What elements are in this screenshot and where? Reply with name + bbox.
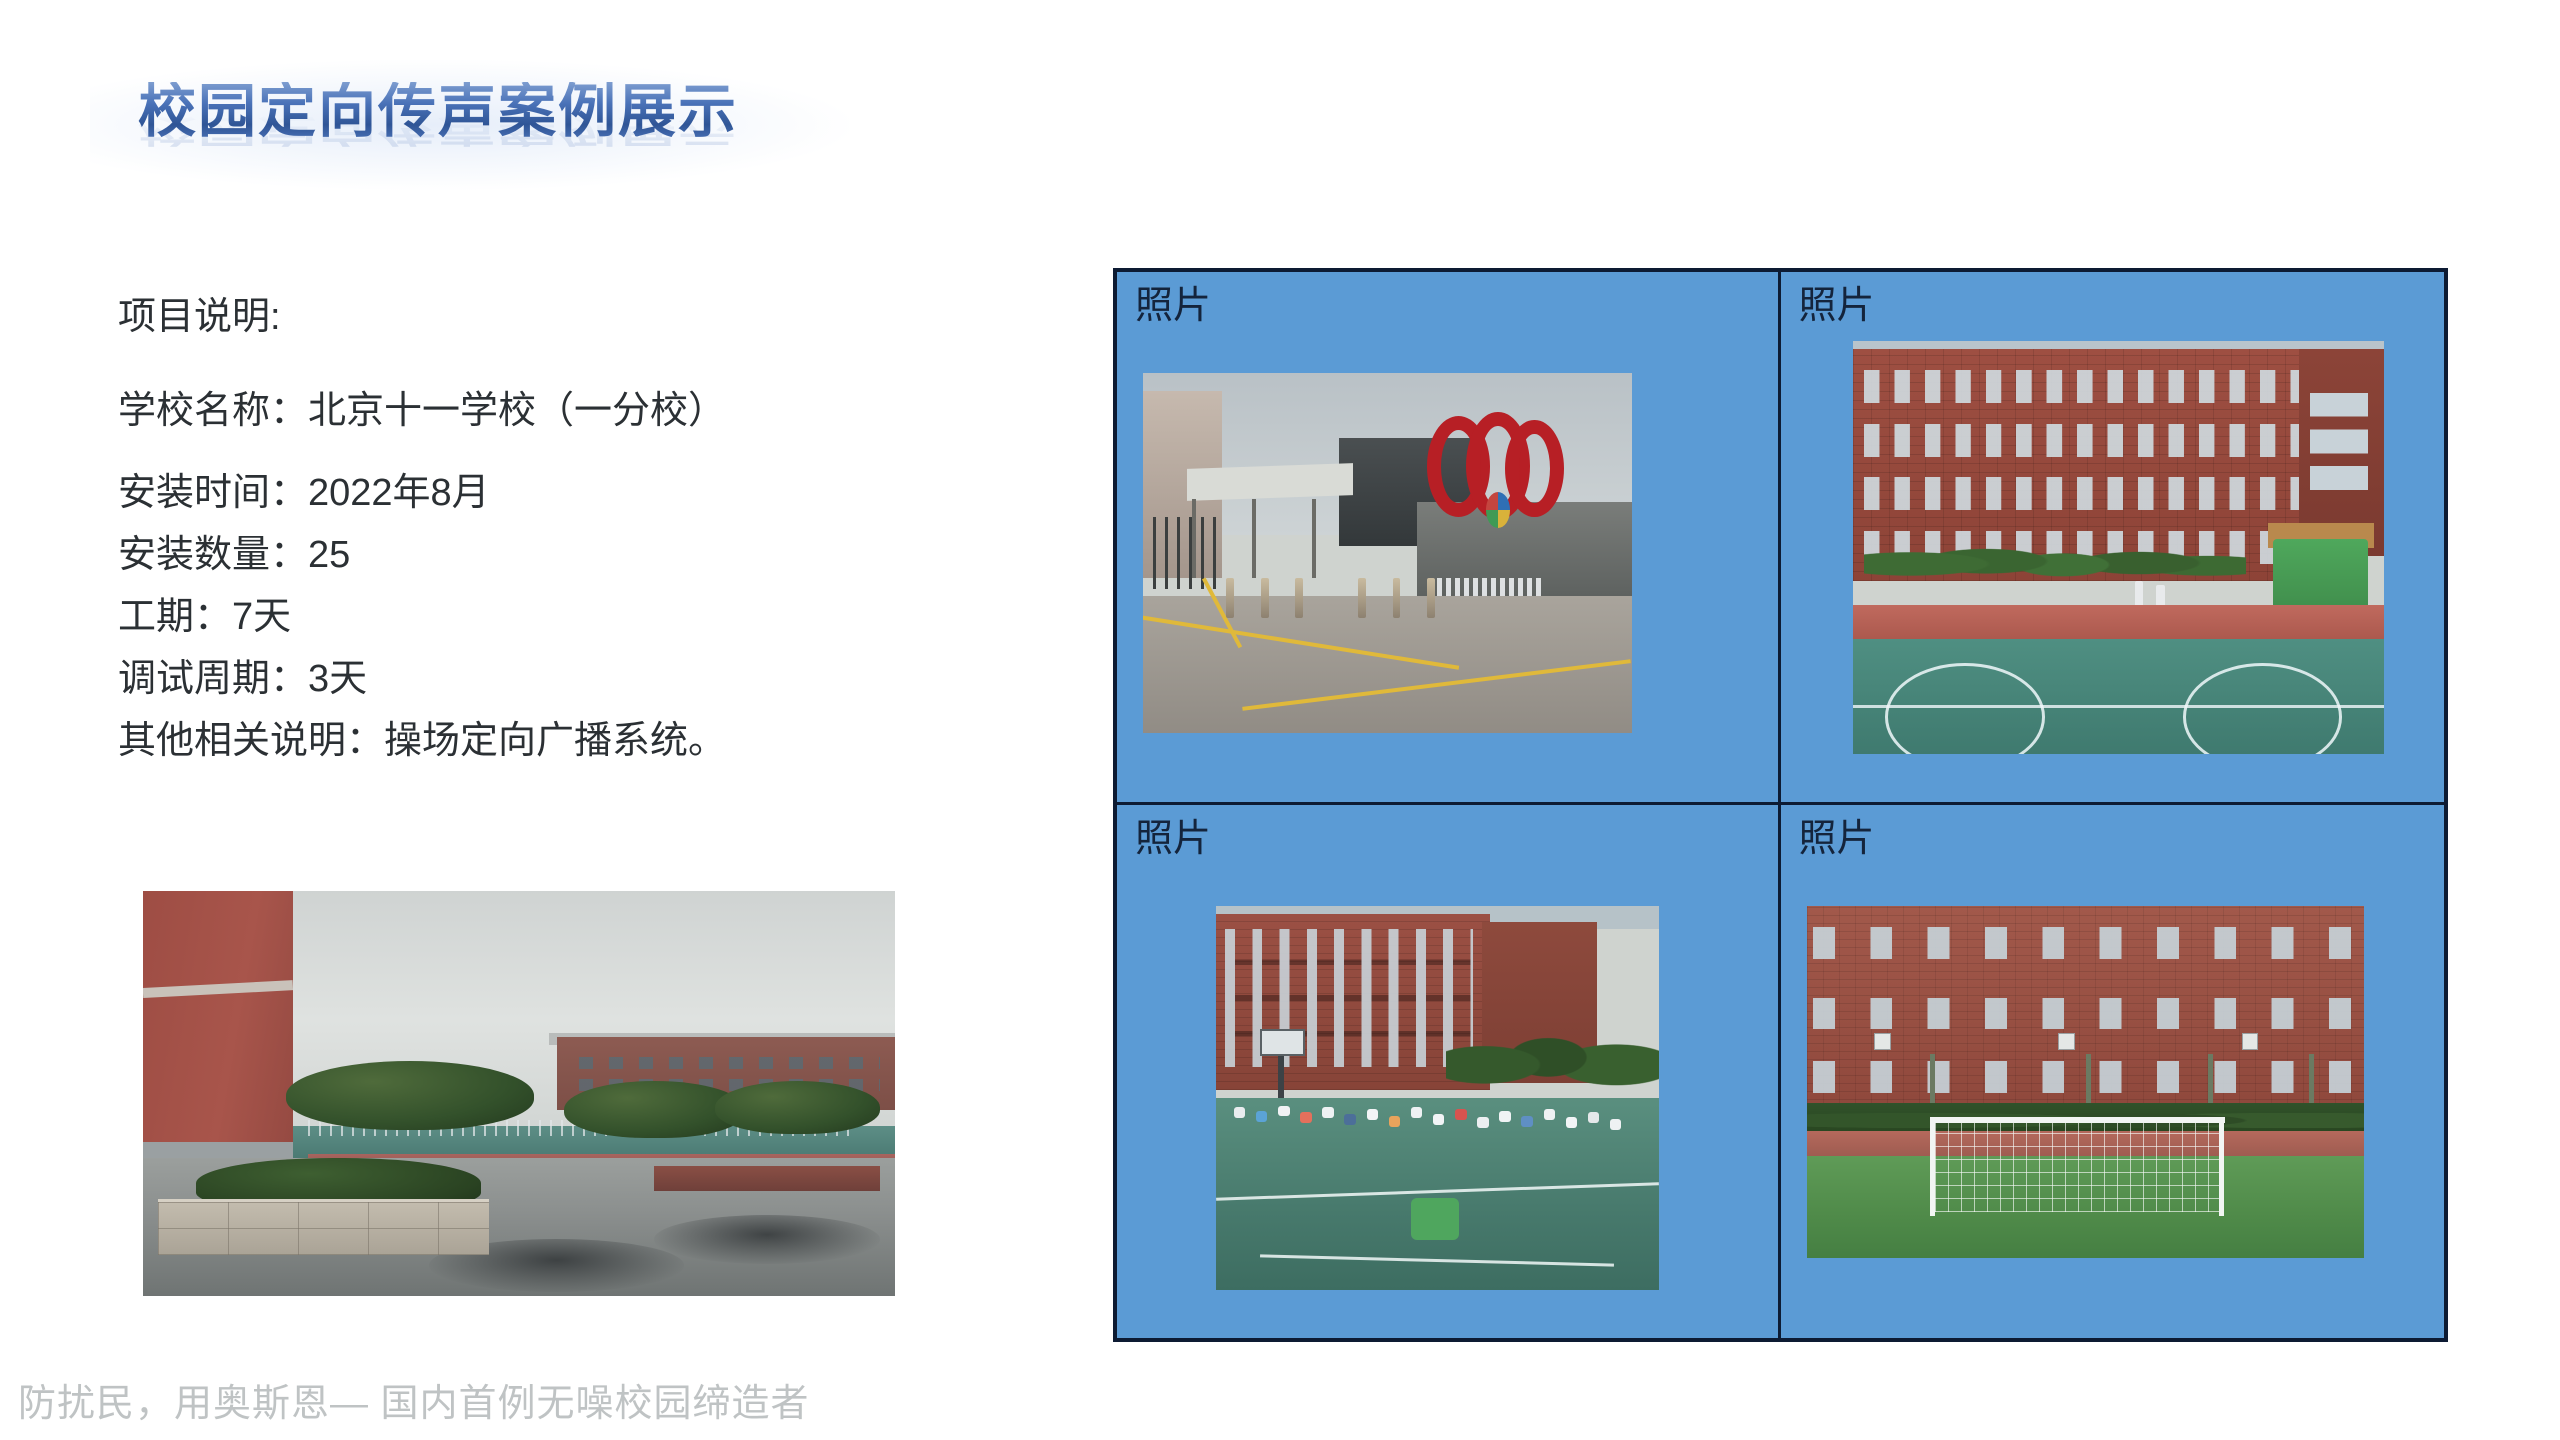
project-info-install-time: 安装时间：2022年8月 bbox=[118, 462, 1018, 524]
photo-air-conditioner bbox=[1874, 1033, 1891, 1051]
photo-goal-net bbox=[1935, 1121, 2219, 1212]
photo-student bbox=[1322, 1107, 1334, 1118]
spacer bbox=[118, 442, 1018, 462]
photo-student bbox=[1588, 1112, 1600, 1123]
students-on-court-photo bbox=[1216, 906, 1659, 1290]
photo-goal-crossbar bbox=[1930, 1117, 2225, 1123]
photo-student bbox=[1455, 1109, 1467, 1120]
project-info-duration: 工期：7天 bbox=[118, 586, 1018, 648]
photo-planter bbox=[654, 1166, 880, 1190]
photo-student bbox=[1521, 1116, 1533, 1127]
photo-foreground-student bbox=[1411, 1198, 1460, 1240]
photo-stone-planter bbox=[158, 1199, 489, 1256]
photo-student-crowd bbox=[1216, 1075, 1659, 1159]
photo-tree bbox=[715, 1081, 880, 1134]
photo-student bbox=[1344, 1114, 1356, 1125]
photo-window-row bbox=[1813, 927, 2359, 959]
project-info-heading: 项目说明: bbox=[118, 286, 1018, 348]
project-info-install-quantity: 安装数量：25 bbox=[118, 524, 1018, 586]
school-gate-photo bbox=[1143, 373, 1632, 733]
photo-student bbox=[1389, 1116, 1401, 1127]
project-info-debug-cycle: 调试周期：3天 bbox=[118, 648, 1018, 710]
photo-bollard bbox=[1427, 578, 1435, 618]
photo-cell-label: 照片 bbox=[1799, 815, 1875, 864]
photo-hoop-backboard bbox=[1260, 1029, 1304, 1056]
photo-cell-label: 照片 bbox=[1135, 282, 1211, 331]
photo-red-sculpture-loop bbox=[1505, 420, 1564, 517]
photo-school-emblem bbox=[1486, 492, 1510, 528]
photo-bollard bbox=[1295, 578, 1303, 618]
photo-tree bbox=[286, 1061, 534, 1130]
photo-bollard bbox=[1358, 578, 1366, 618]
footer-slogan: 防扰民，用奥斯恩— 国内首例无噪校园缔造者 bbox=[18, 1372, 810, 1427]
photo-left-wall bbox=[143, 891, 293, 1142]
photo-puddle bbox=[654, 1215, 880, 1264]
photo-student bbox=[1544, 1109, 1556, 1120]
photo-window-row bbox=[2310, 382, 2368, 489]
page-title: 校园定向传声案例展示 bbox=[138, 82, 738, 143]
photo-student bbox=[1278, 1106, 1290, 1117]
photo-grid-cell[interactable]: 照片 bbox=[1781, 272, 2445, 805]
photo-student bbox=[1610, 1119, 1622, 1130]
photo-red-track bbox=[1853, 605, 2384, 642]
campus-plaza-photo bbox=[143, 891, 895, 1296]
project-info-other-notes: 其他相关说明：操场定向广播系统。 bbox=[118, 710, 1018, 772]
project-info-school-name: 学校名称：北京十一学校（一分校） bbox=[118, 380, 1018, 442]
photo-student bbox=[1300, 1112, 1312, 1123]
photo-canopy bbox=[1187, 463, 1353, 501]
photo-bollard bbox=[1261, 578, 1269, 618]
brick-school-court-photo bbox=[1853, 341, 2384, 754]
photo-student bbox=[1477, 1117, 1489, 1128]
photo-plaza-ground bbox=[1143, 596, 1632, 733]
photo-bollard bbox=[1226, 578, 1234, 618]
photo-air-conditioner bbox=[2058, 1033, 2075, 1051]
photo-grid-cell[interactable]: 照片 bbox=[1117, 272, 1781, 805]
photo-window-row bbox=[1864, 424, 2299, 457]
photo-cell-label: 照片 bbox=[1799, 282, 1875, 331]
photo-cell-label: 照片 bbox=[1135, 815, 1211, 864]
photo-student bbox=[1411, 1107, 1423, 1118]
photo-goal-post bbox=[2219, 1117, 2224, 1215]
photo-grid: 照片 照片 bbox=[1113, 268, 2448, 1342]
photo-air-conditioner bbox=[2242, 1033, 2259, 1051]
photo-student bbox=[1234, 1107, 1246, 1118]
photo-grid-cell[interactable]: 照片 bbox=[1117, 805, 1781, 1338]
spacer bbox=[118, 348, 1018, 380]
photo-tree-row bbox=[1864, 523, 2246, 614]
photo-student bbox=[1499, 1111, 1511, 1122]
photo-window-row bbox=[1813, 998, 2359, 1030]
photo-bollard bbox=[1393, 578, 1401, 618]
photo-grid-cell[interactable]: 照片 bbox=[1781, 805, 2445, 1338]
soccer-goal-photo bbox=[1807, 906, 2364, 1258]
project-info-block: 项目说明: 学校名称：北京十一学校（一分校） 安装时间：2022年8月 安装数量… bbox=[118, 286, 1018, 772]
photo-student bbox=[1256, 1111, 1268, 1122]
photo-window-row bbox=[1864, 370, 2299, 403]
photo-student bbox=[1367, 1109, 1379, 1120]
photo-goal-post bbox=[1930, 1117, 1935, 1215]
photo-window-row bbox=[1864, 477, 2299, 510]
photo-student bbox=[1433, 1114, 1445, 1125]
photo-student bbox=[1566, 1117, 1578, 1128]
photo-gate bbox=[1153, 517, 1217, 589]
photo-court-line bbox=[1853, 705, 2384, 708]
photo-window-row bbox=[579, 1057, 880, 1069]
